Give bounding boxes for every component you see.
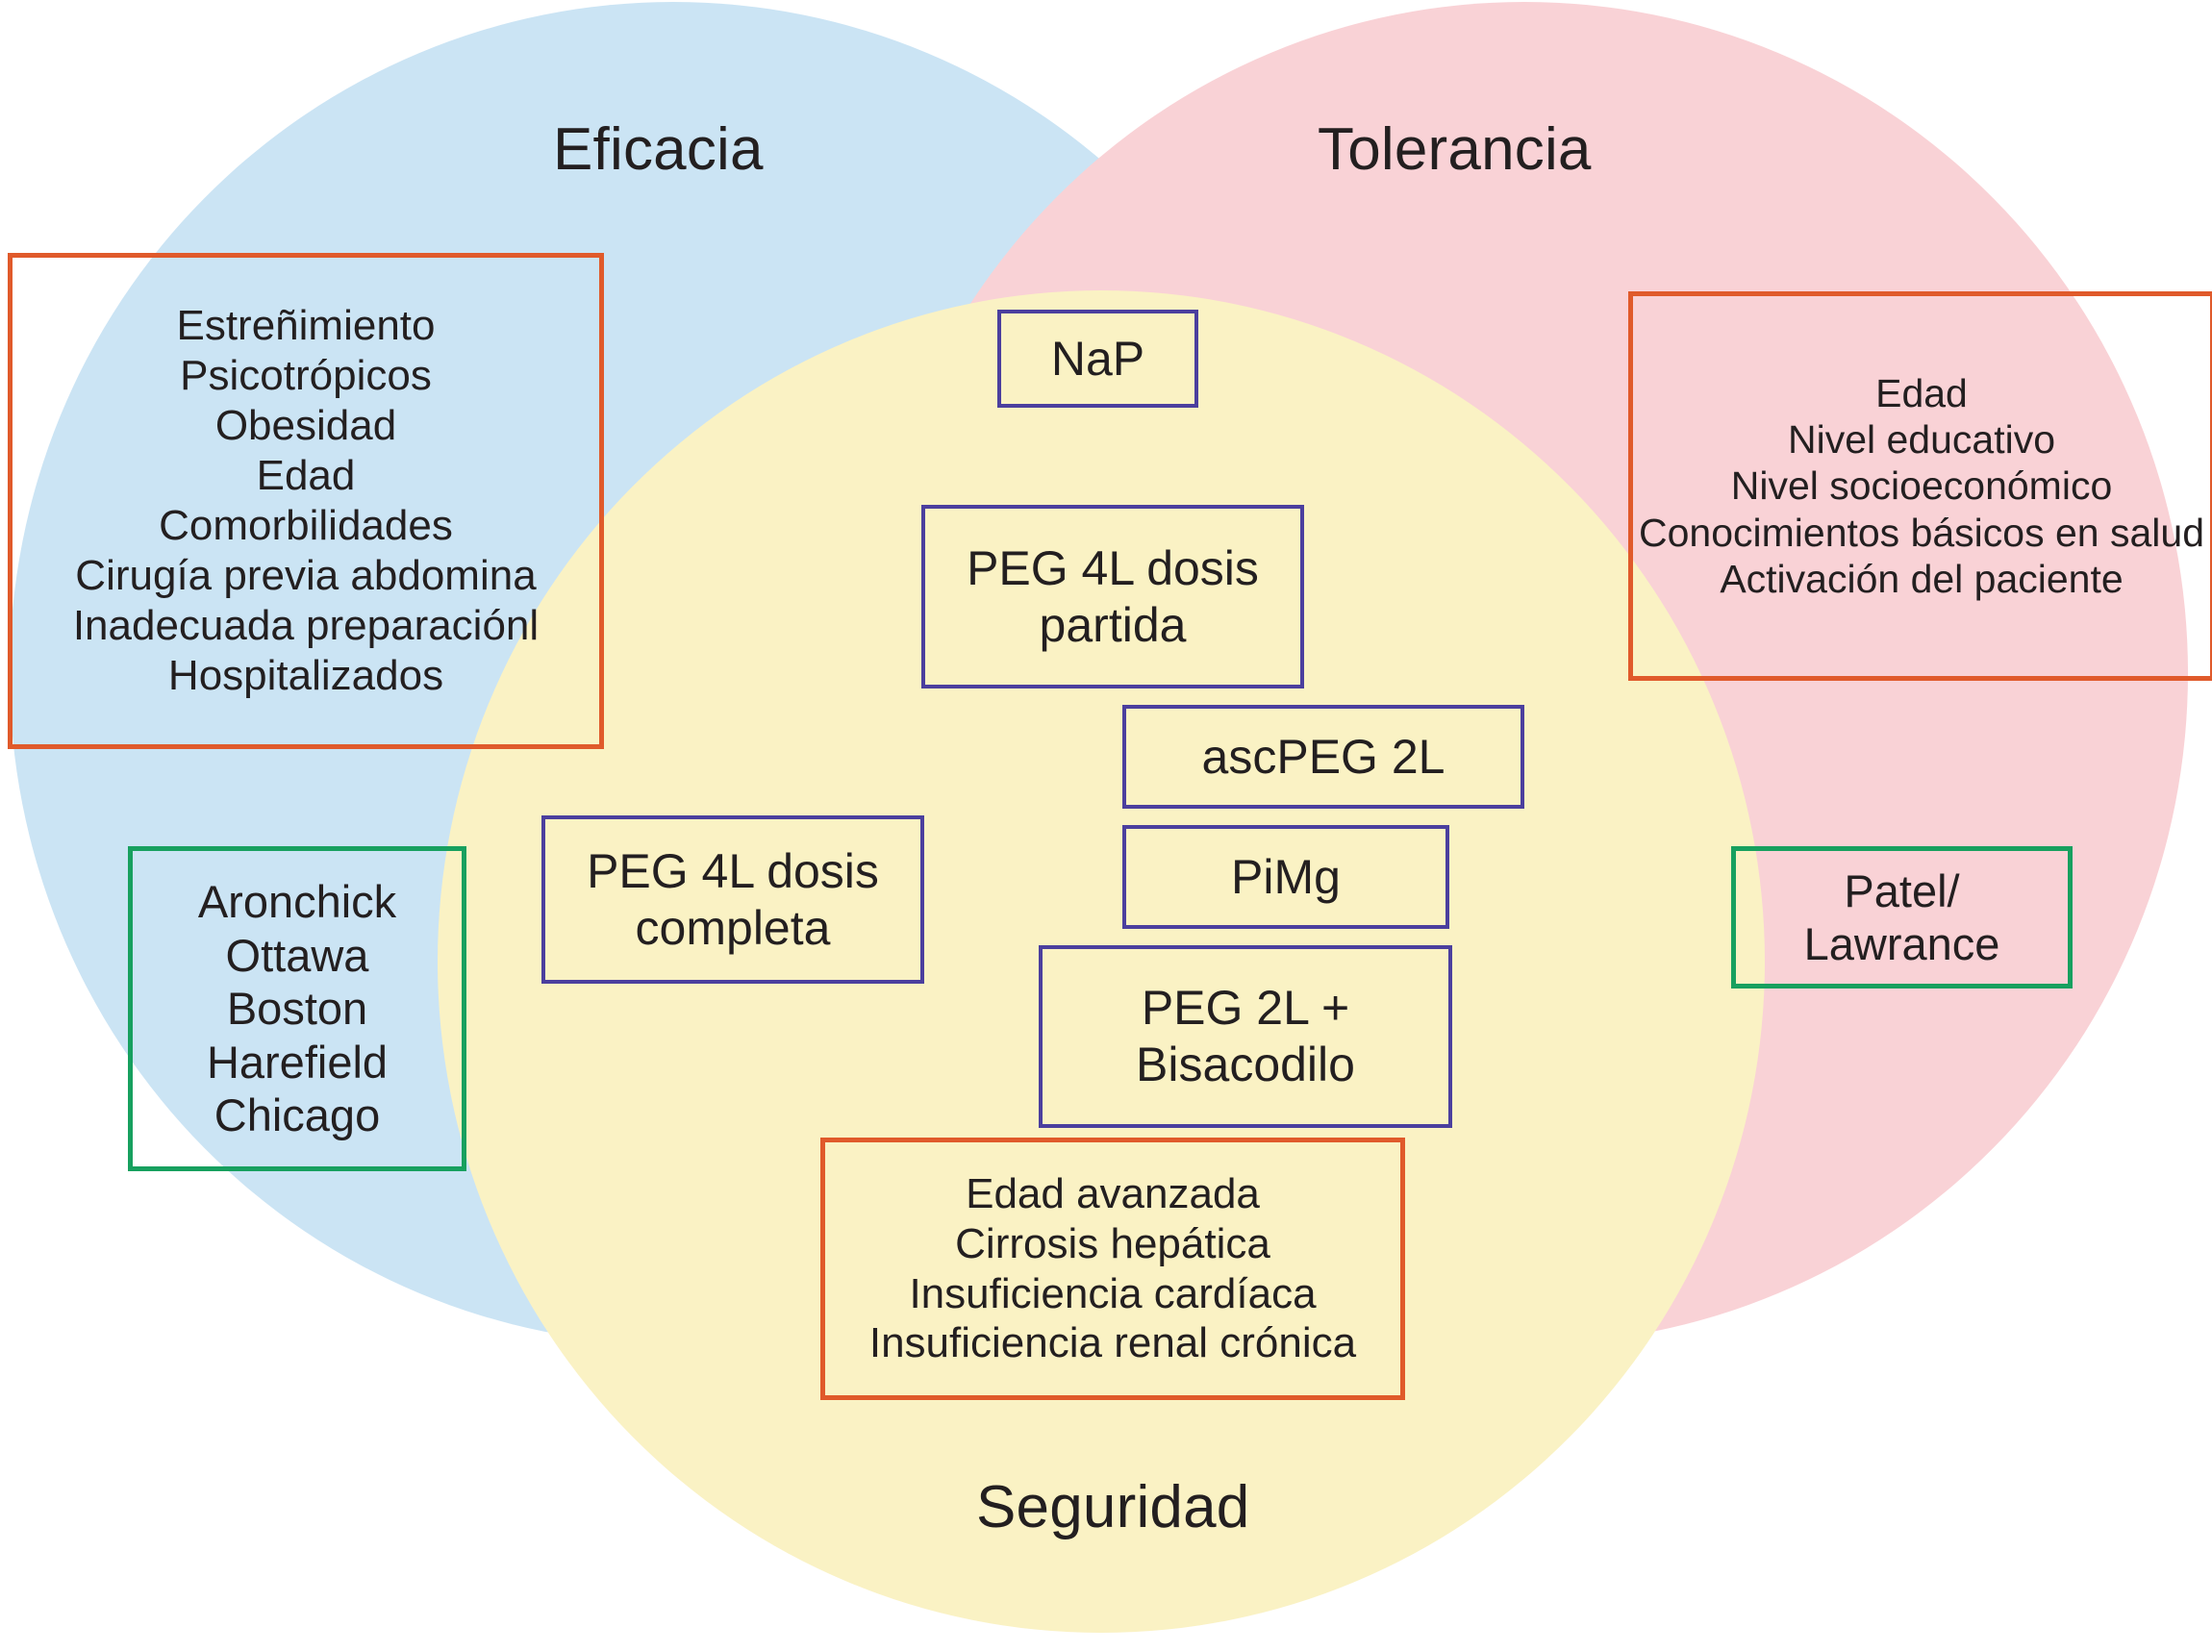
circle-label-eficacia: Eficacia	[553, 115, 764, 184]
product-label: partida	[1040, 597, 1187, 654]
list-item: Hospitalizados	[168, 651, 443, 701]
product-label: Bisacodilo	[1136, 1037, 1355, 1093]
product-label: PiMg	[1231, 849, 1341, 906]
product-label: NaP	[1051, 331, 1144, 388]
product-label: ascPEG 2L	[1202, 729, 1445, 786]
box-peg4l-dosis-completa: PEG 4L dosis completa	[541, 815, 924, 984]
list-item: Nivel socioeconómico	[1731, 463, 2113, 509]
list-item: Psicotrópicos	[180, 351, 432, 401]
list-item: Estreñimiento	[176, 301, 435, 351]
venn-circles-layer	[0, 0, 2212, 1652]
box-tolerancia-factors: Edad Nivel educativo Nivel socioeconómic…	[1628, 291, 2212, 681]
list-item: Nivel educativo	[1788, 416, 2055, 463]
box-peg4l-dosis-partida: PEG 4L dosis partida	[921, 505, 1304, 688]
venn-diagram: Eficacia Tolerancia Seguridad Estreñimie…	[0, 0, 2212, 1652]
list-item: Harefield	[207, 1036, 388, 1089]
list-item: Activación del paciente	[1720, 556, 2123, 602]
list-item: Edad	[1875, 370, 1968, 416]
box-pimg: PiMg	[1122, 825, 1449, 929]
box-scores-eficacia: Aronchick Ottawa Boston Harefield Chicag…	[128, 846, 466, 1171]
list-item: Ottawa	[226, 929, 369, 982]
box-peg2l-bisacodilo: PEG 2L + Bisacodilo	[1039, 945, 1452, 1128]
list-item: Edad	[257, 451, 356, 501]
product-label: PEG 4L dosis	[967, 540, 1259, 597]
product-label: completa	[636, 900, 831, 957]
list-item: Comorbilidades	[159, 501, 453, 551]
box-eficacia-factors: Estreñimiento Psicotrópicos Obesidad Eda…	[8, 253, 604, 749]
product-label: PEG 4L dosis	[587, 843, 879, 900]
list-item: Inadecuada preparaciónl	[73, 601, 539, 651]
list-item: Cirugía previa abdomina	[75, 551, 536, 601]
list-item: Patel/	[1844, 864, 1959, 917]
box-scores-tolerancia: Patel/ Lawrance	[1731, 846, 2073, 989]
box-ascpeg-2l: ascPEG 2L	[1122, 705, 1524, 809]
list-item: Conocimientos básicos en salud	[1639, 510, 2204, 556]
circle-label-tolerancia: Tolerancia	[1318, 115, 1592, 184]
list-item: Edad avanzada	[966, 1169, 1260, 1219]
list-item: Insuficiencia renal crónica	[869, 1318, 1356, 1368]
box-nap: NaP	[997, 310, 1198, 408]
list-item: Cirrosis hepática	[955, 1219, 1270, 1269]
circle-label-seguridad: Seguridad	[976, 1473, 1249, 1541]
box-seguridad-factors: Edad avanzada Cirrosis hepática Insufici…	[820, 1138, 1405, 1400]
list-item: Boston	[227, 982, 367, 1035]
list-item: Obesidad	[215, 401, 396, 451]
list-item: Lawrance	[1804, 917, 2000, 970]
list-item: Insuficiencia cardíaca	[909, 1269, 1316, 1319]
list-item: Chicago	[214, 1089, 380, 1141]
product-label: PEG 2L +	[1142, 980, 1349, 1037]
list-item: Aronchick	[198, 875, 396, 928]
